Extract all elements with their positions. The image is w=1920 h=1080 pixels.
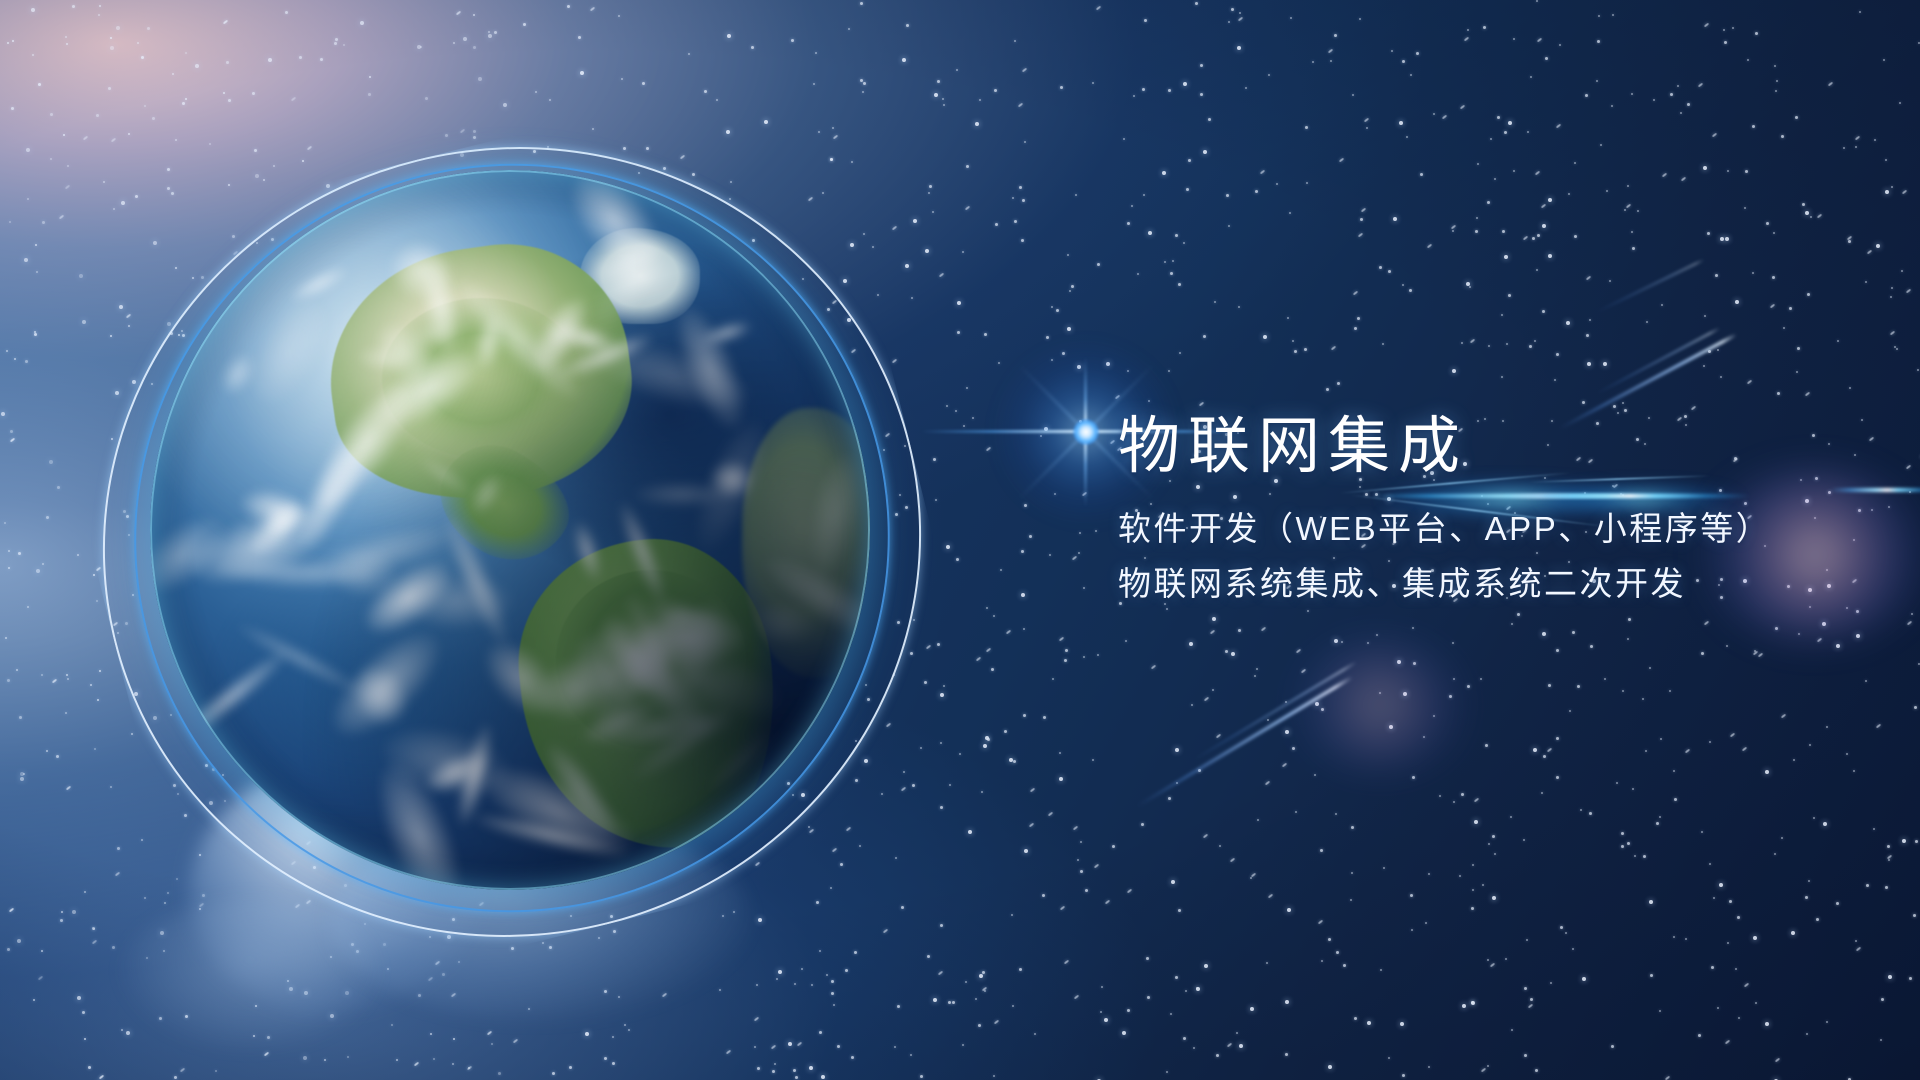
subtitle-group: 软件开发（WEB平台、APP、小程序等） 物联网系统集成、集成系统二次开发 (1118, 512, 1771, 600)
hero-banner: 物联网集成 软件开发（WEB平台、APP、小程序等） 物联网系统集成、集成系统二… (0, 0, 1920, 1080)
lens-flare-pink (1290, 640, 1470, 770)
banner-copy: 物联网集成 软件开发（WEB平台、APP、小程序等） 物联网系统集成、集成系统二… (1118, 416, 1771, 600)
globe-sphere (150, 170, 870, 890)
subtitle-line: 物联网系统集成、集成系统二次开发 (1118, 567, 1771, 600)
subtitle-line: 软件开发（WEB平台、APP、小程序等） (1118, 512, 1771, 545)
ice-mist (120, 900, 380, 1050)
globe-rim-light (150, 170, 870, 890)
earth-globe (150, 170, 870, 890)
page-title: 物联网集成 (1118, 416, 1771, 478)
